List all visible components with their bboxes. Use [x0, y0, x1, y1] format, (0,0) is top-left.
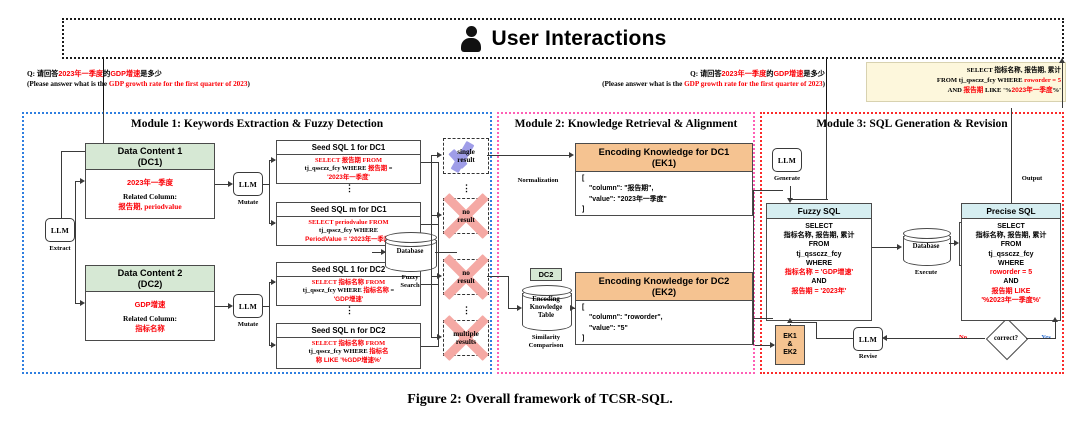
- user-interactions-title: User Interactions: [492, 27, 667, 51]
- llm-mutate-1: LLM: [233, 172, 263, 196]
- ek1-close: ]: [582, 205, 752, 215]
- result-no-2: noresult: [443, 259, 489, 295]
- q-right-en-a: (Please answer what is the: [602, 80, 684, 88]
- pr-l2: 指标名称, 报告期, 累计: [964, 231, 1058, 240]
- llm-mutate-2: LLM: [233, 294, 263, 318]
- ek-to-ek12-arrow: [770, 342, 775, 348]
- s4-l1p2: FROM: [364, 340, 385, 347]
- q-left-en-a: (Please answer what is the: [27, 80, 109, 88]
- fz-l1: SELECT: [769, 222, 869, 231]
- seed-sql-1-dc1: Seed SQL 1 for DC1 SELECT 报告期 FROM tj_qs…: [276, 140, 421, 184]
- res4-l1: multiple: [453, 330, 479, 338]
- s4-l1r: 指标名称: [339, 340, 365, 347]
- res4-arrow: [437, 334, 442, 340]
- fz-l5: WHERE: [769, 259, 869, 268]
- llm-generate-caption: Generate: [763, 175, 811, 182]
- q-left-en-red: GDP growth rate for the first quarter of…: [109, 80, 248, 88]
- dc1-title-1: Data Content 1: [118, 146, 183, 156]
- res1-l2: result: [457, 156, 474, 164]
- module-3-title: Module 3: SQL Generation & Revision: [762, 118, 1062, 130]
- revise-back-h2: [790, 322, 817, 323]
- fuzzy-to-db: [872, 247, 898, 248]
- top-sql-l3-red2: 2023年一季度: [1012, 87, 1053, 94]
- q-right-cn-a: 请回答: [700, 69, 722, 78]
- res1-arrow: [437, 152, 442, 158]
- s1-l2r: 报告期: [368, 165, 387, 172]
- res3-to-table-v: [508, 276, 509, 308]
- s1-l2p2: =: [387, 165, 392, 172]
- llm-revise: LLM: [853, 327, 883, 351]
- fz-l8: 报告期 = '2023年': [769, 287, 869, 296]
- data-content-1: Data Content 1 (DC1) 2023年一季度 Related Co…: [85, 143, 215, 219]
- q-right-cn-c: 是多少: [803, 69, 825, 78]
- ek2-title-1: Encoding Knowledge for DC2: [599, 276, 730, 286]
- result-ellipsis-2: ⋮: [462, 308, 471, 313]
- q-right-cn-red1: 2023年一季度: [722, 69, 767, 78]
- q-left-en-b: ): [247, 80, 249, 88]
- pr-l3: FROM: [964, 240, 1058, 249]
- dc2-related-label: Related Column:: [123, 314, 177, 323]
- no-branch-h: [886, 338, 985, 339]
- q-left-prefix: Q:: [27, 70, 37, 78]
- dc2-to-llm: [215, 306, 229, 307]
- ek2-close: ]: [582, 334, 752, 344]
- database-label: Database: [397, 248, 424, 256]
- person-icon: [460, 26, 482, 52]
- s2-l2p: tj_qsscz_fcy WHERE: [319, 227, 378, 234]
- fuzzy-sql-box: Fuzzy SQL SELECT 指标名称, 报告期, 累计 FROM tj_q…: [766, 203, 872, 321]
- results-fan-v: [431, 155, 432, 337]
- q-right-en-b: ): [823, 80, 825, 88]
- seed4-out: [421, 346, 439, 347]
- db-out-h: [435, 252, 457, 253]
- ek2-row-2: "value": "5": [582, 324, 752, 334]
- s1-l1r: 报告期: [342, 157, 361, 164]
- module-2-title: Module 2: Knowledge Retrieval & Alignmen…: [499, 118, 753, 130]
- ek1-title-2: (EK1): [652, 158, 676, 168]
- ek1-open: [: [582, 174, 752, 184]
- top-sql-l1-plain: SELECT: [967, 67, 995, 74]
- database-cylinder-execute: Database: [903, 228, 949, 266]
- top-sql-l2-plain: FROM tj_qssczz_fcy WHERE: [937, 77, 1024, 84]
- fz-l2: 指标名称, 报告期, 累计: [769, 231, 869, 240]
- res2-l2: result: [457, 216, 474, 224]
- s1-l3: '2023年一季度': [280, 174, 417, 182]
- ek2-open: [: [582, 303, 752, 313]
- module-1-title: Module 1: Keywords Extraction & Fuzzy De…: [24, 118, 490, 130]
- revise-back-h: [816, 338, 854, 339]
- res3-to-table-h: [487, 276, 509, 277]
- q-left-cn-c: 是多少: [140, 69, 162, 78]
- pr-l5: WHERE: [964, 259, 1058, 268]
- seed-sql-m-dc1-header: Seed SQL m for DC1: [277, 203, 420, 217]
- seed1-out: [421, 162, 439, 163]
- top-sql-l1-cn: 指标名称, 报告期, 累计: [994, 67, 1061, 74]
- output-caption: Output: [1008, 175, 1056, 182]
- dc2-keyword: GDP增速: [135, 300, 166, 309]
- q-to-fuzzy-v: [826, 110, 827, 200]
- dc2-tag: DC2: [530, 268, 562, 281]
- decision-correct: correct?: [986, 318, 1026, 358]
- question-divider-right: [826, 59, 827, 111]
- precise-sql-box: Precise SQL SELECT 指标名称, 报告期, 累计 FROM tj…: [961, 203, 1061, 321]
- yes-branch-h: [1026, 338, 1056, 339]
- fz-l4: tj_qssczz_fcy: [769, 250, 869, 259]
- ekt-l1: Encoding: [532, 296, 560, 304]
- dc1-to-llm: [215, 184, 229, 185]
- pr-l7: AND: [964, 277, 1058, 286]
- seeds-collector-v: [438, 162, 439, 347]
- encoding-knowledge-2: Encoding Knowledge for DC2 (EK2) [ "colu…: [575, 272, 753, 345]
- precise-sql-header: Precise SQL: [962, 204, 1060, 219]
- precise-out-v: [1011, 108, 1012, 203]
- dc2-related-value: 指标名称: [123, 324, 177, 333]
- ek2-feed-h: [753, 318, 773, 319]
- res2-l1: no: [462, 208, 470, 216]
- ek2-title-2: (EK2): [652, 287, 676, 297]
- db2-label: Database: [913, 243, 940, 251]
- fz-l6: 指标名称 = 'GDP增速': [769, 268, 869, 277]
- s1-l2p: tj_qssczz_fcy WHERE: [305, 165, 368, 172]
- llm-revise-caption: Revise: [844, 353, 892, 360]
- final-sql-note: SELECT 指标名称, 报告期, 累计 FROM tj_qssczz_fcy …: [866, 62, 1066, 102]
- ek1-feed-v: [753, 190, 754, 345]
- q-right-prefix: Q:: [690, 70, 700, 78]
- seed-ellipsis-1: ⋮: [345, 186, 354, 191]
- dc2-title-1: Data Content 2: [118, 268, 183, 278]
- res4-l2: results: [456, 338, 476, 346]
- fz-l7: AND: [769, 277, 869, 286]
- s3-l1p: SELECT: [312, 279, 339, 286]
- pr-l9: '%2023年一季度%': [964, 296, 1058, 305]
- res3-l1: no: [462, 269, 470, 277]
- fuzzy-to-db-arrow: [897, 244, 902, 250]
- llm-mutate-2-caption: Mutate: [224, 321, 272, 328]
- q-to-fuzzy-h: [790, 199, 828, 200]
- ek1-row-1: "column": "报告期",: [582, 184, 752, 194]
- ek1-row-2: "value": "2023年一季度": [582, 195, 752, 205]
- seed-ellipsis-2: ⋮: [345, 308, 354, 313]
- ekt-l2: Knowledge: [530, 304, 562, 312]
- s4-l1p: SELECT: [312, 340, 339, 347]
- normalization-caption: Normalization: [503, 177, 573, 184]
- pr-l4: tj_qssczz_fcy: [964, 250, 1058, 259]
- m1-fan-v: [269, 160, 270, 224]
- ek1-feed-h: [753, 190, 783, 191]
- s3-l1r: 指标名称: [339, 279, 365, 286]
- q-right-cn-red2: GDP增速: [773, 69, 803, 78]
- similarity-comparison-caption: Similarity Comparison: [510, 334, 582, 350]
- fuzzy-sql-header: Fuzzy SQL: [767, 204, 871, 219]
- result-single: singleresult: [443, 138, 489, 174]
- res1-to-ek1: [487, 155, 571, 156]
- yes-branch-v: [1055, 321, 1056, 339]
- yes-branch-arrow: [1052, 317, 1058, 322]
- fz-l3: FROM: [769, 240, 869, 249]
- revise-back-v: [816, 322, 817, 339]
- user-question-left: Q: 请回答2023年一季度的GDP增速是多少 (Please answer w…: [27, 69, 250, 90]
- extract-feed-v: [61, 151, 62, 219]
- extract-branch-v: [75, 181, 76, 303]
- s4-l2p: tj_qsscz_fcy WHERE: [309, 348, 370, 355]
- top-sql-l3-red1: 报告期: [964, 87, 984, 94]
- pr-l8: 报告期 LIKE: [964, 287, 1058, 296]
- pr-l1: SELECT: [964, 222, 1058, 231]
- top-sql-l3-plain2: LIKE '%: [983, 87, 1011, 94]
- llm-extract: LLM: [45, 218, 75, 242]
- ek12-l2: EK2: [783, 349, 797, 357]
- pr-l6: roworder = 5: [964, 268, 1058, 277]
- s1-l1p2: FROM: [361, 157, 382, 164]
- dc1-related-label: Related Column:: [118, 192, 181, 201]
- s3-l2p: tj_qsscz_fcy WHERE: [303, 287, 364, 294]
- top-sql-connector: [1062, 62, 1063, 108]
- seed-sql-n-dc2: Seed SQL n for DC2 SELECT 指标名称 FROM tj_q…: [276, 323, 421, 369]
- figure-canvas: User Interactions Q: 请回答2023年一季度的GDP增速是多…: [0, 0, 1080, 426]
- top-sql-arrow: [1059, 58, 1065, 63]
- q-left-cn-red2: GDP增速: [110, 69, 140, 78]
- top-sql-l3-plain: AND: [948, 87, 964, 94]
- ek12-l1: EK1: [783, 333, 797, 341]
- encoding-knowledge-table: Encoding Knowledge Table: [522, 285, 570, 331]
- llm-extract-caption: Extract: [36, 245, 84, 252]
- ek2-row-1: "column": "roworder",: [582, 313, 752, 323]
- ek1-title-1: Encoding Knowledge for DC1: [599, 147, 730, 157]
- ek12-amp: &: [787, 341, 792, 349]
- ek1-ek2-box: EK1 & EK2: [775, 325, 805, 365]
- figure-caption: Figure 2: Overall framework of TCSR-SQL.: [0, 392, 1080, 408]
- result-multiple: multipleresults: [443, 320, 489, 356]
- q-left-cn-red1: 2023年一季度: [58, 69, 103, 78]
- s2-l1r: periodvalue: [335, 219, 367, 226]
- user-question-right: Q: 请回答2023年一季度的GDP增速是多少 (Please answer w…: [480, 69, 825, 90]
- llm-generate: LLM: [772, 148, 802, 172]
- s4-l2r: 指标名: [369, 348, 388, 355]
- dc1-title-2: (DC1): [138, 157, 163, 167]
- result-no-1: noresult: [443, 198, 489, 234]
- decision-label: correct?: [986, 318, 1026, 358]
- execute-caption: Execute: [898, 269, 954, 276]
- s2-l1p2: FROM: [367, 219, 388, 226]
- res3-l2: result: [457, 277, 474, 285]
- res2-arrow: [437, 212, 442, 218]
- llm-mutate-1-caption: Mutate: [224, 199, 272, 206]
- fuzzy-drop: [790, 186, 791, 200]
- data-content-2: Data Content 2 (DC2) GDP增速 Related Colum…: [85, 265, 215, 341]
- q-left-cn-a: 请回答: [37, 69, 59, 78]
- dc1-keyword: 2023年一季度: [127, 178, 173, 187]
- dc2-title-2: (DC2): [138, 279, 163, 289]
- res3-arrow: [437, 273, 442, 279]
- seed2-out: [421, 224, 439, 225]
- s3-l3: 'GDP增速': [280, 296, 417, 304]
- encoding-knowledge-1: Encoding Knowledge for DC1 (EK1) [ "colu…: [575, 143, 753, 216]
- result-ellipsis-1: ⋮: [462, 186, 471, 191]
- s1-l1p: SELECT: [315, 157, 342, 164]
- revise-back-arrow: [787, 318, 793, 323]
- ek12-up: [790, 324, 791, 326]
- seed-sql-n-dc2-header: Seed SQL n for DC2: [277, 324, 420, 338]
- res1-to-ek1-arrow: [569, 152, 574, 158]
- s2-l1p: SELECT: [308, 219, 335, 226]
- res1-l1: single: [457, 148, 475, 156]
- top-sql-l3-plain3: %': [1053, 87, 1061, 94]
- m2-fan-v: [269, 282, 270, 346]
- database-cylinder-fuzzy: Database: [385, 232, 435, 272]
- dc1-related-value: 报告期, periodvalue: [118, 202, 181, 211]
- top-sql-l2-red: roworder = 5: [1024, 77, 1061, 84]
- s4-l3: 称 LIKE '%GDP增速%': [280, 357, 417, 365]
- user-interactions-banner: User Interactions: [62, 18, 1064, 59]
- seed-sql-1-dc1-header: Seed SQL 1 for DC1: [277, 141, 420, 155]
- ekt-l3: Table: [538, 312, 554, 320]
- q-right-en-red: GDP growth rate for the first quarter of…: [684, 80, 823, 88]
